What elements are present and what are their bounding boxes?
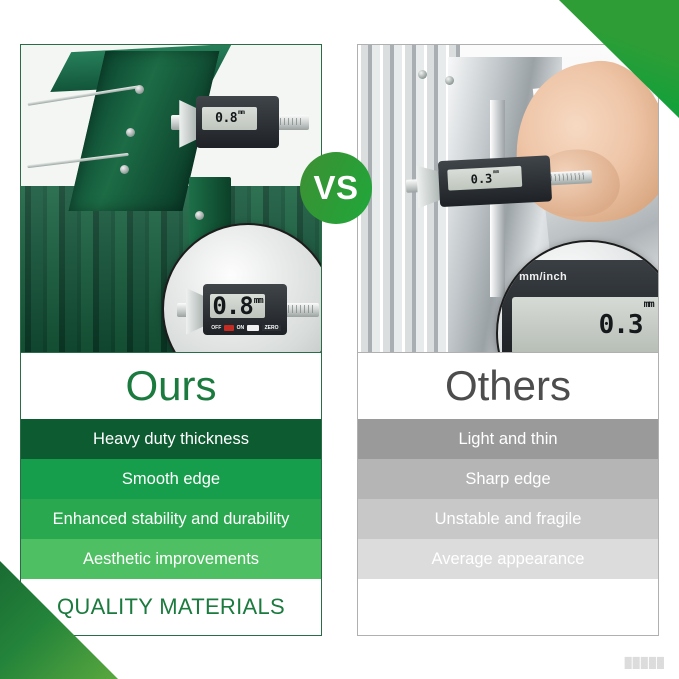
feature-label: Aesthetic improvements (83, 550, 259, 569)
caliper-lcd-display-magnified-others: 0.3mm (512, 297, 658, 352)
caliper-mode-label: mm/inch (519, 271, 567, 283)
panel-others: 0.3mm mm/inch 0.3mm OFF ON ZERO (357, 44, 659, 636)
panel-footer-ours: QUALITY MATERIALS (21, 579, 321, 635)
feature-row: Sharp edge (358, 459, 658, 499)
vs-badge-label: VS (313, 169, 358, 207)
panel-title-others: Others (445, 362, 571, 410)
caliper-body: 0.8mm (196, 96, 279, 147)
caliper-button-row: OFF ON ZERO (211, 324, 279, 332)
feature-row: Aesthetic improvements (21, 539, 321, 579)
feature-label: Sharp edge (465, 470, 550, 489)
vs-badge: VS (300, 152, 372, 224)
feature-list-ours: Heavy duty thickness Smooth edge Enhance… (21, 419, 321, 579)
feature-row: Average appearance (358, 539, 658, 579)
panel-title-band-others: Others (358, 352, 658, 419)
panel-ours: 0.8mm 0.8mm OFF ON (20, 44, 322, 636)
caliper-lcd-display-magnified: 0.8mm (210, 294, 266, 317)
caliper-reading-value-others: 0.3 (470, 171, 492, 186)
comparison-infographic: 0.8mm 0.8mm OFF ON (0, 0, 679, 679)
watermark: █████ (625, 658, 665, 669)
caliper-lcd-display: 0.8mm (202, 107, 257, 131)
feature-label: Heavy duty thickness (93, 430, 249, 449)
feature-label: Light and thin (458, 430, 557, 449)
caliper-magnified-ours: 0.8mm OFF ON ZERO (177, 282, 318, 339)
caliper-body-magnified: 0.8mm OFF ON ZERO (203, 284, 288, 334)
screw-corner (195, 211, 204, 220)
feature-row: Light and thin (358, 419, 658, 459)
caliper-reading-unit-magnified: mm (254, 296, 263, 306)
panel-footer-label-ours: QUALITY MATERIALS (57, 594, 285, 620)
caliper-body-others: 0.3mm (438, 155, 552, 207)
feature-row: Smooth edge (21, 459, 321, 499)
caliper-small-ours: 0.8mm (171, 94, 309, 152)
screw-lower (120, 165, 129, 174)
caliper-jaw (179, 100, 197, 148)
caliper-reading-value-magnified-others: 0.3 (599, 310, 643, 340)
caliper-reading-value: 0.8 (215, 111, 237, 126)
product-photo-ours: 0.8mm 0.8mm OFF ON (21, 45, 321, 352)
panel-footer-others (358, 579, 658, 635)
caliper-off-label: OFF (211, 325, 221, 331)
feature-row: Enhanced stability and durability (21, 499, 321, 539)
caliper-reading-value-magnified: 0.8 (212, 292, 252, 320)
caliper-body-magnified-others: mm/inch 0.3mm OFF ON ZERO (502, 260, 658, 352)
panel-title-band-ours: Ours (21, 352, 321, 419)
caliper-jaw-magnified (186, 288, 204, 335)
product-photo-others: 0.3mm mm/inch 0.3mm OFF ON ZERO (358, 45, 658, 352)
feature-row: Unstable and fragile (358, 499, 658, 539)
caliper-on-label: ON (237, 325, 245, 331)
screw-top-others (418, 70, 427, 79)
caliper-red-button (224, 325, 233, 331)
caliper-lcd-display-others: 0.3mm (448, 166, 523, 191)
feature-label: Enhanced stability and durability (53, 510, 290, 529)
feature-label: Average appearance (432, 550, 585, 569)
feature-label: Smooth edge (122, 470, 220, 489)
caliper-zero-label: ZERO (262, 325, 282, 331)
screw-middle (126, 128, 135, 137)
caliper-reading-unit: mm (238, 109, 244, 116)
panel-title-ours: Ours (125, 362, 216, 410)
screw-mid-others (445, 76, 454, 85)
screw-top (135, 85, 144, 94)
caliper-white-button (247, 325, 258, 331)
feature-label: Unstable and fragile (435, 510, 582, 529)
feature-row: Heavy duty thickness (21, 419, 321, 459)
caliper-small-others: 0.3mm (405, 151, 593, 213)
caliper-reading-unit-magnified-others: mm (644, 299, 654, 310)
feature-list-others: Light and thin Sharp edge Unstable and f… (358, 419, 658, 579)
caliper-reading-unit-others: mm (493, 169, 499, 175)
